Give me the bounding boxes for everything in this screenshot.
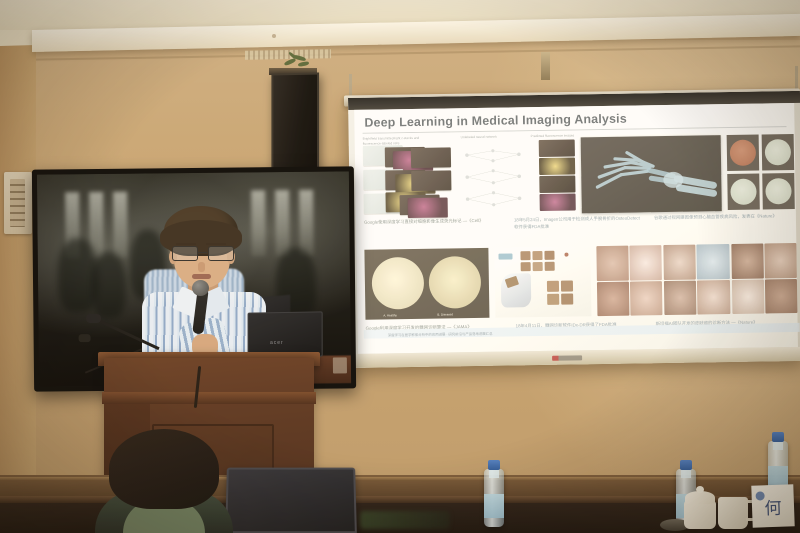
caption-cell: 谷歌通过视网膜图像预测心脑血管疾病风险，发表在《Nature》 (654, 213, 782, 222)
hand-xray-image (581, 135, 722, 213)
retina-label-healthy: A. Healthy (383, 313, 396, 317)
slide-row-2: A. Healthy B. Diseased (364, 243, 789, 324)
caption-cell: Google使用深度学习直接对细胞影像生成荧光标记 —《Cell》 (364, 218, 492, 227)
foreground-laptop-screen (225, 468, 357, 533)
eyeglasses-icon (172, 246, 232, 259)
tv-reflected-outlet (333, 357, 347, 373)
podium-lip (102, 392, 316, 404)
microscopy-image-grid (363, 145, 442, 214)
light-switch-rockers[interactable] (10, 179, 25, 227)
laptop-brand-label: acer (270, 340, 284, 346)
retina-comparison-pair: A. Healthy B. Diseased (364, 248, 489, 320)
mug[interactable] (718, 497, 748, 529)
plant-icon (282, 52, 314, 72)
table-misc-items (360, 511, 450, 529)
neural-network-diagram (459, 140, 532, 213)
left-wall (0, 0, 36, 533)
tv-reflected-mic-head-icon (79, 334, 91, 342)
diagnostic-device-illustration (494, 246, 591, 317)
slide-row-1: Brightfield transmitted-light z-stacks a… (363, 130, 788, 215)
ceiling-sensor-icon (272, 34, 276, 38)
name-card: 何 (751, 484, 794, 527)
retina-image-grid (727, 134, 796, 211)
name-card-text: 何 (764, 493, 782, 519)
network-panel-label: Unlabeled neural network (461, 134, 521, 140)
screen-brand-logo-icon (552, 355, 582, 360)
prediction-image-strip (539, 139, 576, 214)
derm-block (731, 243, 797, 314)
retina-label-diseased: B. Diseased (437, 312, 453, 316)
skin-lesion-image-grid (596, 243, 797, 316)
derm-block (664, 244, 730, 315)
projection-screen: Deep Learning in Medical Imaging Analysi… (348, 91, 800, 368)
presentation-photo: Deep Learning in Medical Imaging Analysi… (0, 0, 800, 533)
gooseneck-mic-head-icon (86, 314, 101, 323)
audience-member (95, 429, 233, 533)
presentation-slide: Deep Learning in Medical Imaging Analysi… (354, 103, 798, 354)
lidded-teacup[interactable] (684, 489, 716, 529)
screen-mount-left (349, 74, 352, 96)
microphone-head-icon (192, 280, 209, 296)
caption-cell: 18年5月24日，Imagen公司用于检测成人手腕骨折的OsteoDetect软… (514, 215, 642, 231)
derm-block (596, 245, 662, 316)
light-switch-panel[interactable] (4, 172, 32, 234)
podium-laptop-screen (248, 311, 323, 356)
prediction-panel-label: Predicted fluorescence images (531, 133, 579, 139)
foreground-laptop[interactable] (218, 467, 360, 533)
water-bottle[interactable] (484, 469, 504, 527)
screen-hanger-hook (541, 52, 550, 80)
